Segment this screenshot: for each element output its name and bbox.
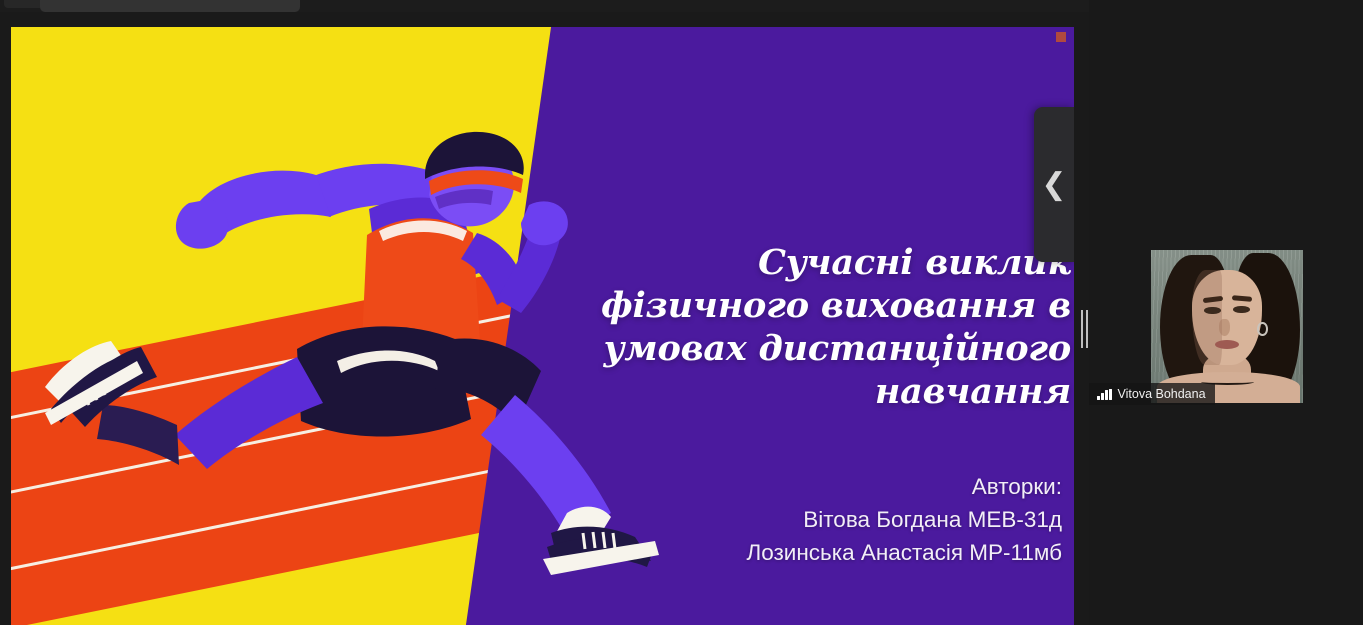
slide-title-line: фізичного виховання в	[591, 284, 1071, 327]
authors-heading: Авторки:	[542, 470, 1062, 503]
participant-name-chip: Vitova Bohdana	[1089, 383, 1215, 405]
participant-name: Vitova Bohdana	[1118, 387, 1206, 401]
slide-title-line: умовах дистанційного	[591, 327, 1071, 370]
slide-corner-mark	[1056, 32, 1066, 42]
slide-title-line: Сучасні виклик	[591, 241, 1071, 284]
grip-line	[1086, 310, 1088, 348]
avatar-eye-left	[1204, 307, 1221, 315]
signal-bars-icon	[1097, 389, 1112, 400]
author-name: Лозинська Анастасія МР-11мб	[542, 536, 1062, 569]
slide-title-line: навчання	[591, 370, 1071, 413]
collapse-panel-button[interactable]: ❮	[1034, 107, 1074, 262]
grip-line	[1081, 310, 1083, 348]
author-name: Вітова Богдана МЕВ-31д	[542, 503, 1062, 536]
avatar-earring	[1257, 322, 1268, 336]
avatar-nose	[1219, 319, 1230, 336]
panel-resize-grip[interactable]	[1080, 310, 1089, 348]
avatar-face-shading	[1192, 270, 1222, 365]
participant-video-tile[interactable]	[1151, 250, 1303, 403]
shared-slide-stage[interactable]: Сучасні виклик фізичного виховання в умо…	[11, 27, 1074, 625]
participant-sidebar: Vitova Bohdana	[1089, 0, 1363, 625]
chrome-address-bar[interactable]	[40, 0, 300, 12]
slide-authors: Авторки: Вітова Богдана МЕВ-31д Лозинськ…	[542, 470, 1062, 569]
chevron-left-icon: ❮	[1041, 170, 1066, 200]
video-call-screen: Сучасні виклик фізичного виховання в умо…	[0, 0, 1363, 625]
slide-title: Сучасні виклик фізичного виховання в умо…	[591, 241, 1071, 413]
